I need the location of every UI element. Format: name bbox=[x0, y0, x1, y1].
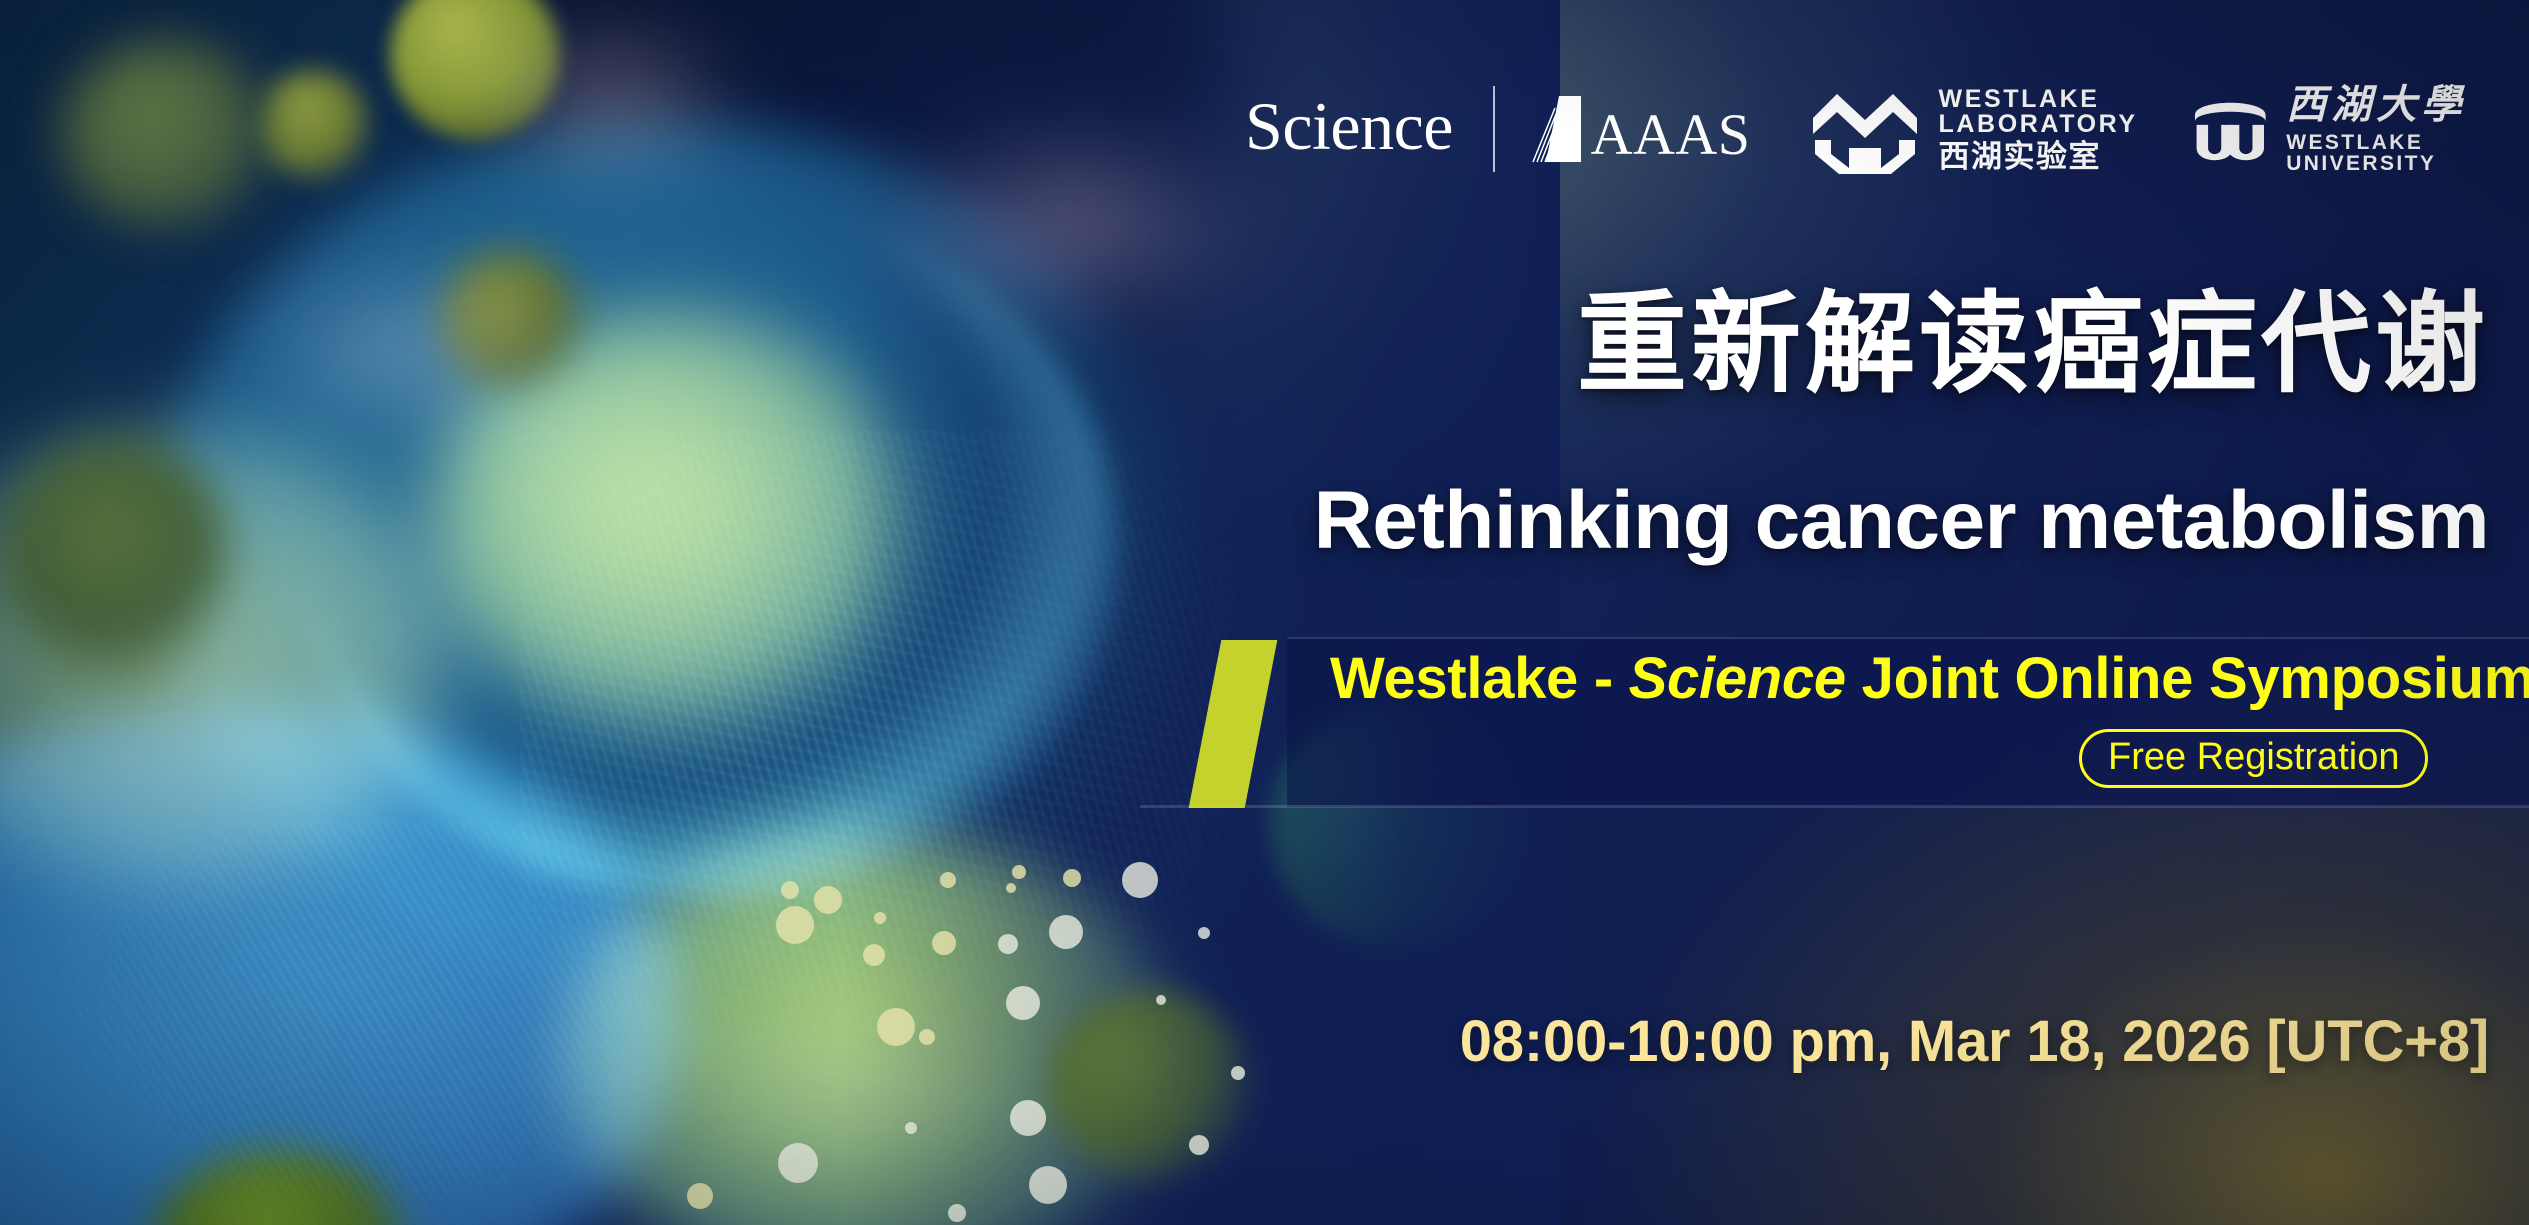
decorative-dot bbox=[1012, 865, 1026, 879]
westlake-lab-chinese: 西湖实验室 bbox=[1939, 141, 2138, 172]
symposium-title: Westlake - Science Joint Online Symposiu… bbox=[1330, 650, 2529, 708]
aaas-wordmark: AAAS bbox=[1591, 106, 1751, 164]
westlake-lab-line1: WESTLAKE bbox=[1939, 87, 2138, 112]
decorative-dot bbox=[919, 1029, 935, 1045]
decorative-dot bbox=[874, 912, 886, 924]
decorative-dot bbox=[1049, 915, 1083, 949]
decorative-dot bbox=[1198, 927, 1210, 939]
westlake-lab-line2: LABORATORY bbox=[1939, 112, 2138, 137]
symposium-band-bottom-edge bbox=[1140, 805, 2529, 808]
aaas-logo[interactable]: AAAS bbox=[1529, 94, 1751, 164]
decorative-dot bbox=[905, 1122, 917, 1134]
decorative-dot bbox=[863, 944, 885, 966]
decorative-dot bbox=[932, 931, 956, 955]
westlake-university-chinese: 西湖大學 bbox=[2286, 85, 2529, 125]
event-datetime: 08:00-10:00 pm, Mar 18, 2026 [UTC+8] bbox=[1289, 1013, 2489, 1071]
decorative-dot bbox=[1063, 869, 1081, 887]
decorative-dot bbox=[781, 881, 799, 899]
decorative-dot-cluster bbox=[0, 0, 1400, 1225]
westlake-university-arch-mark-icon bbox=[2190, 86, 2271, 172]
symposium-band-top-edge bbox=[1287, 637, 2529, 639]
decorative-dot bbox=[1006, 986, 1040, 1020]
decorative-dot bbox=[778, 1143, 818, 1183]
event-poster: Science AAAS bbox=[0, 0, 2529, 1225]
decorative-dot bbox=[1029, 1166, 1067, 1204]
decorative-dot bbox=[687, 1183, 713, 1209]
decorative-dot bbox=[1231, 1066, 1245, 1080]
symposium-title-prefix: Westlake - bbox=[1330, 646, 1629, 711]
decorative-dot bbox=[1006, 883, 1016, 893]
science-wordmark[interactable]: Science bbox=[1245, 92, 1453, 166]
free-registration-badge[interactable]: Free Registration bbox=[2079, 729, 2428, 788]
symposium-title-italic: Science bbox=[1629, 646, 1846, 711]
decorative-dot bbox=[814, 886, 842, 914]
symposium-title-suffix: Joint Online Symposium bbox=[1846, 646, 2529, 711]
westlake-laboratory-hexagon-mark-icon bbox=[1809, 82, 1921, 176]
decorative-dot bbox=[1122, 862, 1158, 898]
decorative-dot bbox=[948, 1204, 966, 1222]
decorative-dot bbox=[1156, 995, 1166, 1005]
westlake-university-english: WESTLAKE UNIVERSITY bbox=[2286, 132, 2529, 174]
decorative-dot bbox=[998, 934, 1018, 954]
page-title-chinese: 重新解读癌症代谢 bbox=[1439, 290, 2489, 400]
decorative-dot bbox=[877, 1008, 915, 1046]
westlake-laboratory-logo[interactable]: WESTLAKE LABORATORY 西湖实验室 bbox=[1809, 82, 2138, 176]
aaas-triangle-mark-icon bbox=[1529, 94, 1585, 164]
decorative-dot bbox=[940, 872, 956, 888]
decorative-dot bbox=[1189, 1135, 1209, 1155]
page-title-english: Rethinking cancer metabolism bbox=[989, 480, 2489, 562]
decorative-dot bbox=[776, 906, 814, 944]
westlake-university-logo[interactable]: 西湖大學 WESTLAKE UNIVERSITY bbox=[2190, 85, 2529, 174]
vertical-divider-icon bbox=[1493, 86, 1495, 172]
decorative-dot bbox=[1010, 1100, 1046, 1136]
logo-bar: Science AAAS bbox=[1245, 86, 2529, 172]
